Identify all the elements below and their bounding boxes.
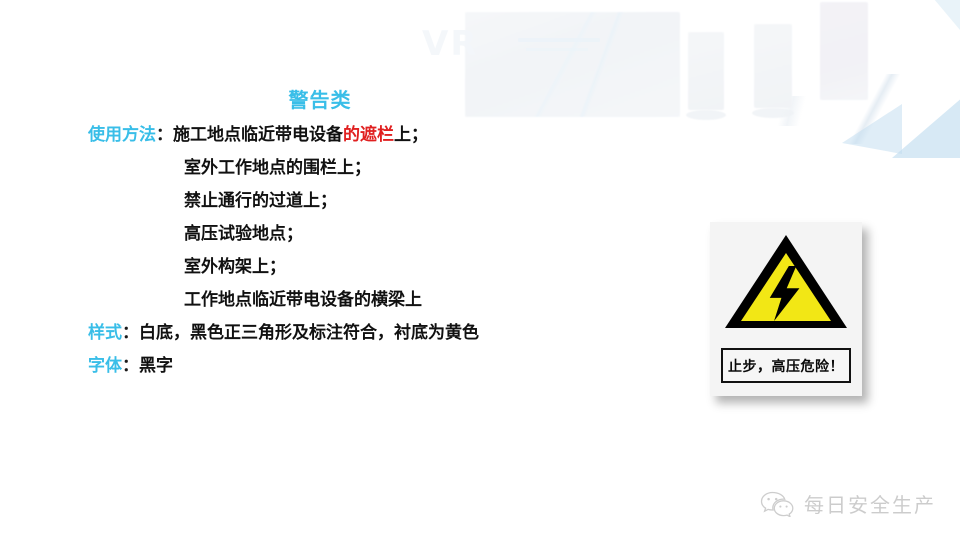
sign-caption-box: 止步，高压危险！ [721,348,851,383]
usage-item-1-highlight: 的遮栏 [343,120,394,145]
usage-row-2: 室外工作地点的围栏上； [88,153,708,186]
style-label: 样式 [88,318,122,343]
usage-row-1: 使用方法 ： 施工地点临近带电设备 的遮栏 上； [88,120,708,153]
exhibit-panel-b [754,24,792,108]
style-value: 白底，黑色正三角形及标注符合，衬底为黄色 [139,318,479,343]
font-label: 字体 [88,351,122,376]
vr-logo-text: VR [422,24,479,64]
font-value: 黑字 [139,351,173,376]
high-voltage-triangle-icon [723,231,849,331]
exhibit-stand-b [752,108,794,118]
exhibit-panel-a [688,32,724,110]
usage-item-3-text: 禁止通行的过道上； [184,186,337,211]
usage-row-5: 室外构架上； [88,252,708,285]
font-row: 字体 ： 黑字 [88,351,708,384]
slide-canvas: VR 警告类 使用方法 ： 施工地点临近带电设备 的遮栏 上； 室外工作地点的围… [0,0,960,540]
style-row: 样式 ： 白底，黑色正三角形及标注符合，衬底为黄色 [88,318,708,351]
watermark-text: 每日安全生产 [804,489,936,518]
exhibit-stand-a [686,110,726,120]
usage-row-3: 禁止通行的过道上； [88,186,708,219]
style-colon: ： [122,318,139,343]
watermark: 每日安全生产 [760,489,936,518]
usage-row-6: 工作地点临近带电设备的横梁上 [88,285,708,318]
page-title: 警告类 [0,84,640,113]
usage-item-1-post: 上； [394,120,428,145]
sign-caption-text: 止步，高压危险！ [728,356,844,376]
screen-caption-bar-2 [526,48,588,51]
usage-item-6-text: 工作地点临近带电设备的横梁上 [184,285,422,310]
usage-item-2-text: 室外工作地点的围栏上； [184,153,371,178]
warning-sign-plate: 止步，高压危险！ [710,222,862,396]
usage-colon: ： [156,120,173,145]
usage-item-4-text: 高压试验地点； [184,219,303,244]
usage-row-4: 高压试验地点； [88,219,708,252]
font-colon: ： [122,351,139,376]
usage-label: 使用方法 [88,120,156,145]
wechat-icon [760,491,794,517]
usage-item-5-text: 室外构架上； [184,252,286,277]
screen-caption-bar-1 [518,38,600,42]
usage-item-1-pre: 施工地点临近带电设备 [173,120,343,145]
content-block: 使用方法 ： 施工地点临近带电设备 的遮栏 上； 室外工作地点的围栏上； 禁止通… [88,120,708,384]
